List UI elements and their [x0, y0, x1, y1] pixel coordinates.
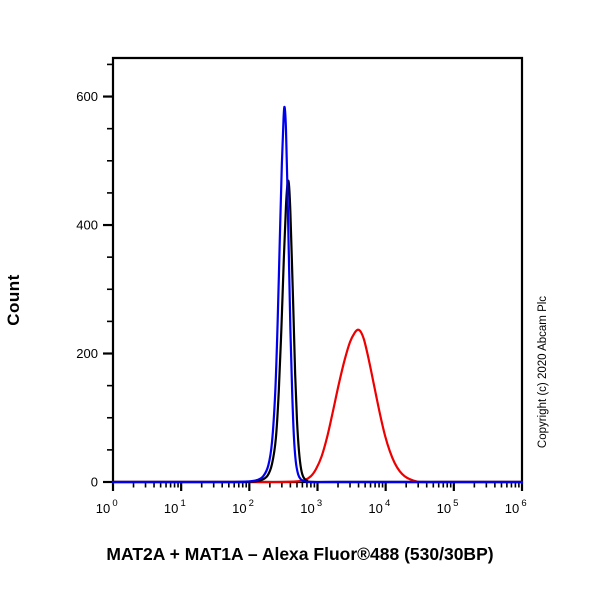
x-tick-exponent: 5: [453, 498, 458, 509]
plot-canvas: 0200400600100101102103104105106: [0, 0, 600, 600]
x-tick-exponent: 1: [181, 498, 186, 509]
plot-frame: [113, 58, 522, 482]
series-isotype-control: [113, 181, 522, 482]
y-tick-label: 600: [76, 89, 98, 104]
x-tick-label: 10: [164, 501, 178, 516]
x-tick-exponent: 3: [317, 498, 322, 509]
chart-title: MAT2A + MAT1A – Alexa Fluor®488 (530/30B…: [0, 544, 600, 565]
x-tick-label: 10: [505, 501, 519, 516]
y-tick-label: 200: [76, 346, 98, 361]
x-tick-label: 10: [232, 501, 246, 516]
x-tick-label: 10: [300, 501, 314, 516]
x-tick-exponent: 4: [385, 498, 390, 509]
x-tick-exponent: 6: [521, 498, 526, 509]
y-tick-label: 400: [76, 218, 98, 233]
x-tick-label: 10: [368, 501, 382, 516]
y-axis-label: Count: [4, 274, 24, 326]
x-tick-exponent: 2: [249, 498, 254, 509]
x-tick-exponent: 0: [112, 498, 117, 509]
series-mat2a-mat1a-alexa-fluor-488: [113, 330, 522, 482]
copyright-notice: Copyright (c) 2020 Abcam Plc: [537, 296, 549, 448]
y-tick-label: 0: [91, 475, 98, 490]
x-tick-label: 10: [437, 501, 451, 516]
flow-cytometry-chart: 0200400600100101102103104105106 Count MA…: [0, 0, 600, 600]
x-tick-label: 10: [96, 501, 110, 516]
series-unstained-control: [113, 107, 522, 482]
